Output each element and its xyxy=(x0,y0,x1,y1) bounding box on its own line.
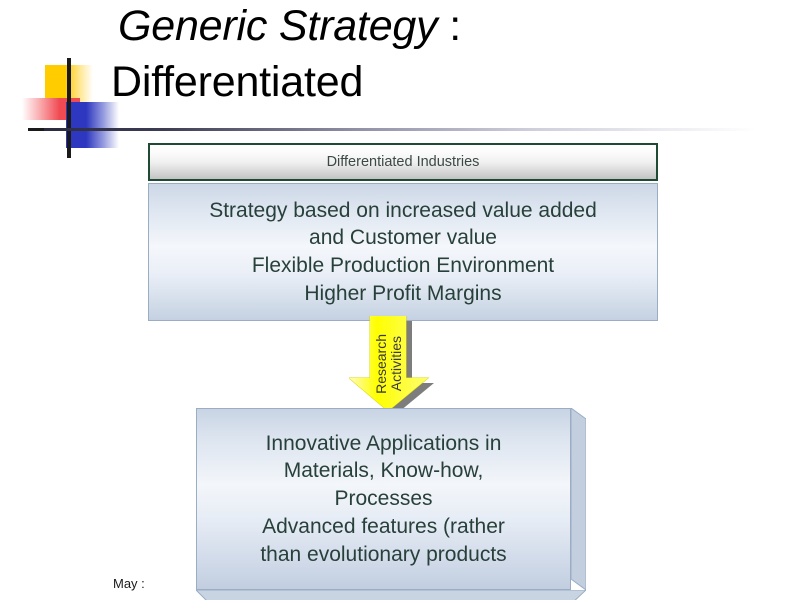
bottom-box-line: Processes xyxy=(334,485,432,513)
top-box-header: Differentiated Industries xyxy=(148,143,658,181)
bottom-box-right-bevel xyxy=(571,408,586,590)
logo-blue-square xyxy=(66,102,119,148)
bottom-box-line: than evolutionary products xyxy=(260,541,506,569)
arrow-label-word: Activities xyxy=(389,336,403,391)
arrow-label: Research Activities xyxy=(359,316,417,412)
bottom-box-bottom-bevel xyxy=(196,590,586,600)
bottom-box-face: Innovative Applications in Materials, Kn… xyxy=(196,408,571,590)
top-box-line: and Customer value xyxy=(309,224,497,252)
research-activities-arrow: Research Activities xyxy=(349,316,459,412)
page-title-line2: Differentiated xyxy=(111,58,363,107)
slide-canvas: Generic Strategy : Differentiated Differ… xyxy=(0,0,800,600)
top-box-line: Strategy based on increased value added xyxy=(209,197,597,225)
top-box-line: Flexible Production Environment xyxy=(252,252,554,280)
bottom-box-line: Advanced features (rather xyxy=(262,513,505,541)
page-title-emphasis: Generic Strategy xyxy=(118,2,437,50)
top-box-header-label: Differentiated Industries xyxy=(327,154,480,170)
bottom-box-line: Innovative Applications in xyxy=(266,430,502,458)
logo-vertical-bar xyxy=(67,58,71,158)
page-title-colon: : xyxy=(437,2,461,50)
blends-template-logo xyxy=(22,58,142,158)
top-box-line: Higher Profit Margins xyxy=(304,280,501,308)
innovative-applications-box: Innovative Applications in Materials, Kn… xyxy=(196,408,586,600)
footer-date: May : xyxy=(113,576,145,591)
title-divider-rule xyxy=(44,128,786,131)
differentiated-industries-box: Differentiated Industries Strategy based… xyxy=(148,143,658,323)
page-title-line1: Generic Strategy : xyxy=(118,2,461,51)
bottom-box-line: Materials, Know-how, xyxy=(284,457,484,485)
arrow-label-word: Research xyxy=(374,334,388,394)
top-box-body: Strategy based on increased value added … xyxy=(148,183,658,321)
